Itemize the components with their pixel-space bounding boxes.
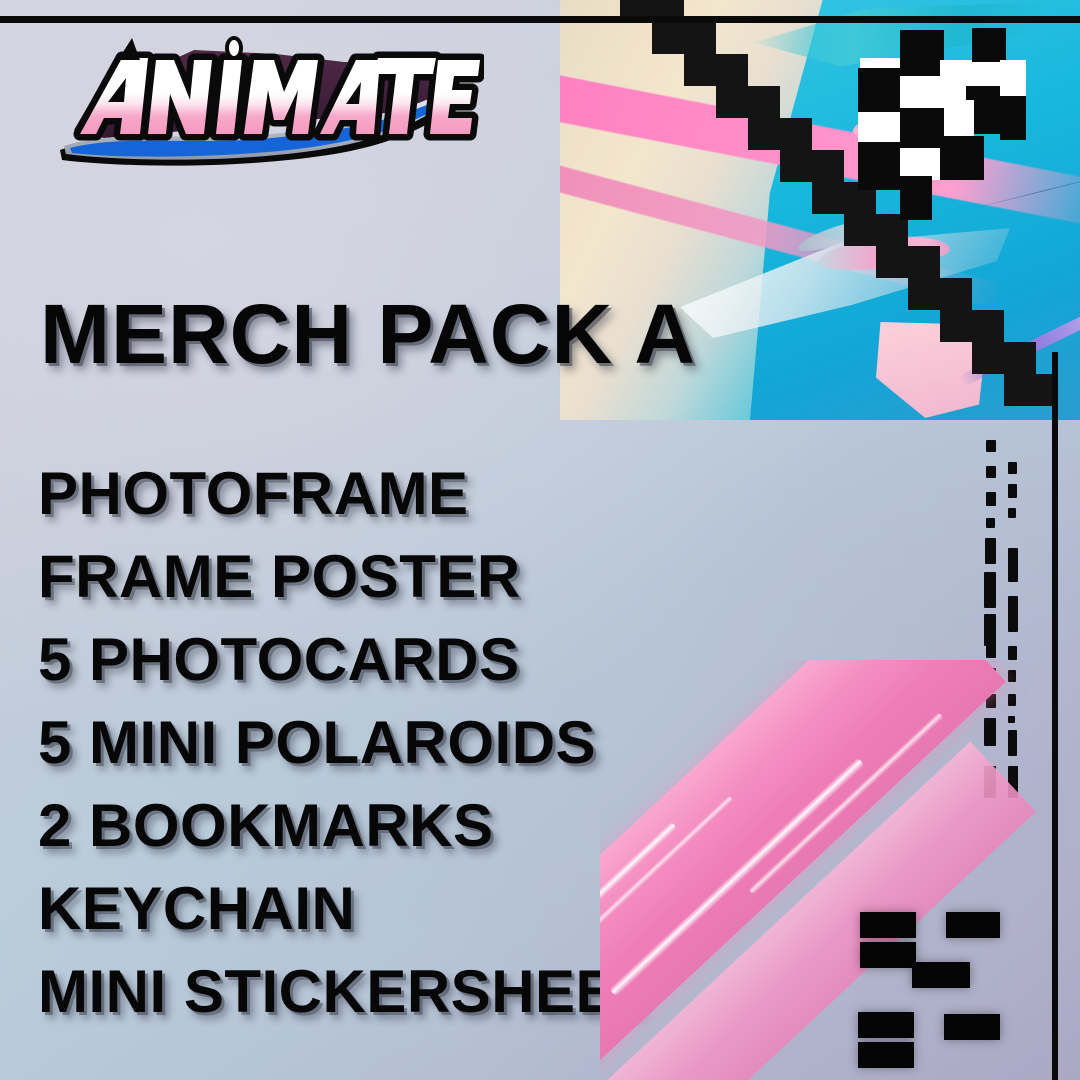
dash-mark xyxy=(1008,462,1017,474)
dash-mark xyxy=(986,492,996,506)
dash-mark xyxy=(1008,548,1018,582)
dash-mark xyxy=(1008,508,1016,518)
dash-mark xyxy=(1008,646,1017,660)
dash-mark xyxy=(986,620,996,632)
dash-mark xyxy=(986,440,996,452)
merch-pack-poster: MERCH PACK A PHOTOFRAME FRAME POSTER 5 P… xyxy=(0,0,1080,1080)
dash-mark xyxy=(984,572,996,608)
dash-mark xyxy=(986,644,996,658)
pink-diagonal-ribbon xyxy=(600,660,1080,1080)
dash-mark xyxy=(1008,596,1018,632)
dash-mark xyxy=(1008,484,1017,498)
dash-mark xyxy=(985,538,996,564)
dash-mark xyxy=(986,518,995,528)
dash-mark xyxy=(986,466,996,478)
